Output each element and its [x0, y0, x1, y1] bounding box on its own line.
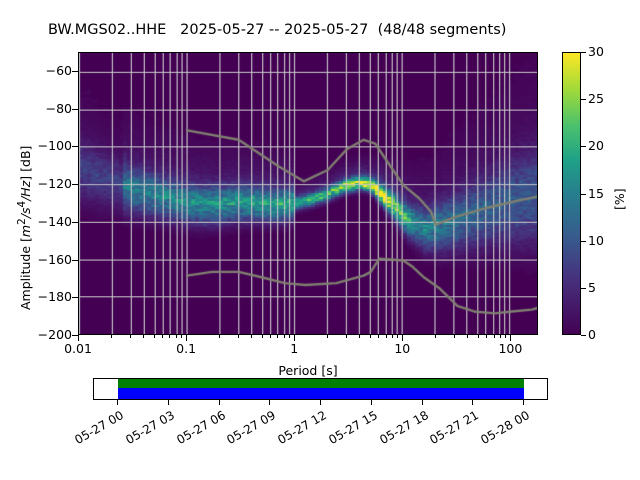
y-tick-label: −80	[20, 101, 72, 116]
noise-model-curves	[79, 53, 538, 335]
colorbar-tick-mark	[581, 335, 586, 336]
x-tick-mark	[402, 335, 403, 341]
coverage-tick-mark	[219, 400, 220, 405]
x-minor-tick-mark	[370, 335, 371, 338]
colorbar-tick-mark	[581, 146, 586, 147]
coverage-segment-green	[118, 379, 524, 388]
x-minor-tick-mark	[327, 335, 328, 338]
x-tick-mark	[186, 335, 187, 341]
x-minor-tick-mark	[181, 335, 182, 338]
x-tick-mark	[78, 335, 79, 341]
x-minor-tick-mark	[386, 335, 387, 338]
colorbar	[562, 52, 581, 335]
colorbar-tick-label: 0	[588, 327, 596, 342]
coverage-tick-label: 05-27 00	[65, 408, 126, 451]
colorbar-tick-label: 10	[588, 233, 604, 248]
y-tick-mark	[72, 260, 78, 261]
x-minor-tick-mark	[130, 335, 131, 338]
colorbar-tick-label: 20	[588, 138, 604, 153]
y-tick-mark	[72, 184, 78, 185]
x-minor-tick-mark	[176, 335, 177, 338]
x-minor-tick-mark	[277, 335, 278, 338]
coverage-tick-mark	[269, 400, 270, 405]
colorbar-tick-mark	[581, 241, 586, 242]
colorbar-tick-mark	[581, 194, 586, 195]
colorbar-tick-label: 15	[588, 186, 604, 201]
colorbar-tick-mark	[581, 288, 586, 289]
x-minor-tick-mark	[111, 335, 112, 338]
coverage-tick-mark	[117, 400, 118, 405]
x-minor-tick-mark	[162, 335, 163, 338]
coverage-tick-label: 05-27 21	[421, 408, 482, 451]
x-minor-tick-mark	[143, 335, 144, 338]
x-tick-mark	[294, 335, 295, 341]
coverage-tick-mark	[168, 400, 169, 405]
coverage-tick-label: 05-28 00	[471, 408, 532, 451]
y-tick-label: −100	[20, 138, 72, 153]
x-minor-tick-mark	[238, 335, 239, 338]
colorbar-tick-label: 30	[588, 44, 604, 59]
y-tick-mark	[72, 222, 78, 223]
x-minor-tick-mark	[154, 335, 155, 338]
x-minor-tick-mark	[505, 335, 506, 338]
x-minor-tick-mark	[500, 335, 501, 338]
x-minor-tick-mark	[397, 335, 398, 338]
x-minor-tick-mark	[251, 335, 252, 338]
colorbar-tick-label: 5	[588, 280, 596, 295]
data-coverage-bar	[93, 378, 548, 400]
coverage-tick-mark	[472, 400, 473, 405]
y-tick-label: −180	[20, 289, 72, 304]
colorbar-tick-mark	[581, 52, 586, 53]
x-minor-tick-mark	[270, 335, 271, 338]
coverage-tick-mark	[371, 400, 372, 405]
x-minor-tick-mark	[467, 335, 468, 338]
colorbar-tick-mark	[581, 99, 586, 100]
coverage-tick-label: 05-27 09	[218, 408, 279, 451]
x-minor-tick-mark	[494, 335, 495, 338]
coverage-tick-mark	[422, 400, 423, 405]
x-minor-tick-mark	[346, 335, 347, 338]
y-tick-label: −160	[20, 252, 72, 267]
colorbar-tick-label: 25	[588, 91, 604, 106]
y-tick-mark	[72, 71, 78, 72]
x-minor-tick-mark	[169, 335, 170, 338]
ppsd-figure: BW.MGS02..HHE 2025-05-27 -- 2025-05-27 (…	[0, 0, 640, 480]
x-tick-label: 0.1	[156, 341, 216, 356]
y-tick-mark	[72, 109, 78, 110]
coverage-tick-label: 05-27 15	[319, 408, 380, 451]
y-tick-label: −60	[20, 63, 72, 78]
coverage-segment-blue	[118, 388, 524, 399]
x-minor-tick-mark	[454, 335, 455, 338]
ppsd-plot-area	[78, 52, 538, 335]
coverage-tick-mark	[320, 400, 321, 405]
x-tick-label: 1	[264, 341, 324, 356]
x-tick-label: 10	[372, 341, 432, 356]
x-axis-label: Period [s]	[78, 363, 538, 378]
x-minor-tick-mark	[289, 335, 290, 338]
colorbar-label: [%]	[612, 188, 627, 210]
x-minor-tick-mark	[392, 335, 393, 338]
y-tick-label: −120	[20, 176, 72, 191]
coverage-tick-label: 05-27 06	[167, 408, 228, 451]
figure-title: BW.MGS02..HHE 2025-05-27 -- 2025-05-27 (…	[48, 22, 588, 44]
x-minor-tick-mark	[219, 335, 220, 338]
x-minor-tick-mark	[378, 335, 379, 338]
y-tick-label: −200	[20, 327, 72, 342]
x-minor-tick-mark	[284, 335, 285, 338]
x-tick-label: 0.01	[48, 341, 108, 356]
x-minor-tick-mark	[486, 335, 487, 338]
y-tick-mark	[72, 146, 78, 147]
coverage-tick-label: 05-27 03	[116, 408, 177, 451]
x-tick-mark	[510, 335, 511, 341]
x-minor-tick-mark	[359, 335, 360, 338]
x-minor-tick-mark	[435, 335, 436, 338]
y-tick-label: −140	[20, 214, 72, 229]
y-tick-mark	[72, 297, 78, 298]
x-minor-tick-mark	[262, 335, 263, 338]
x-minor-tick-mark	[478, 335, 479, 338]
coverage-tick-label: 05-27 18	[370, 408, 431, 451]
coverage-tick-mark	[523, 400, 524, 405]
coverage-tick-label: 05-27 12	[268, 408, 329, 451]
x-tick-label: 100	[480, 341, 540, 356]
